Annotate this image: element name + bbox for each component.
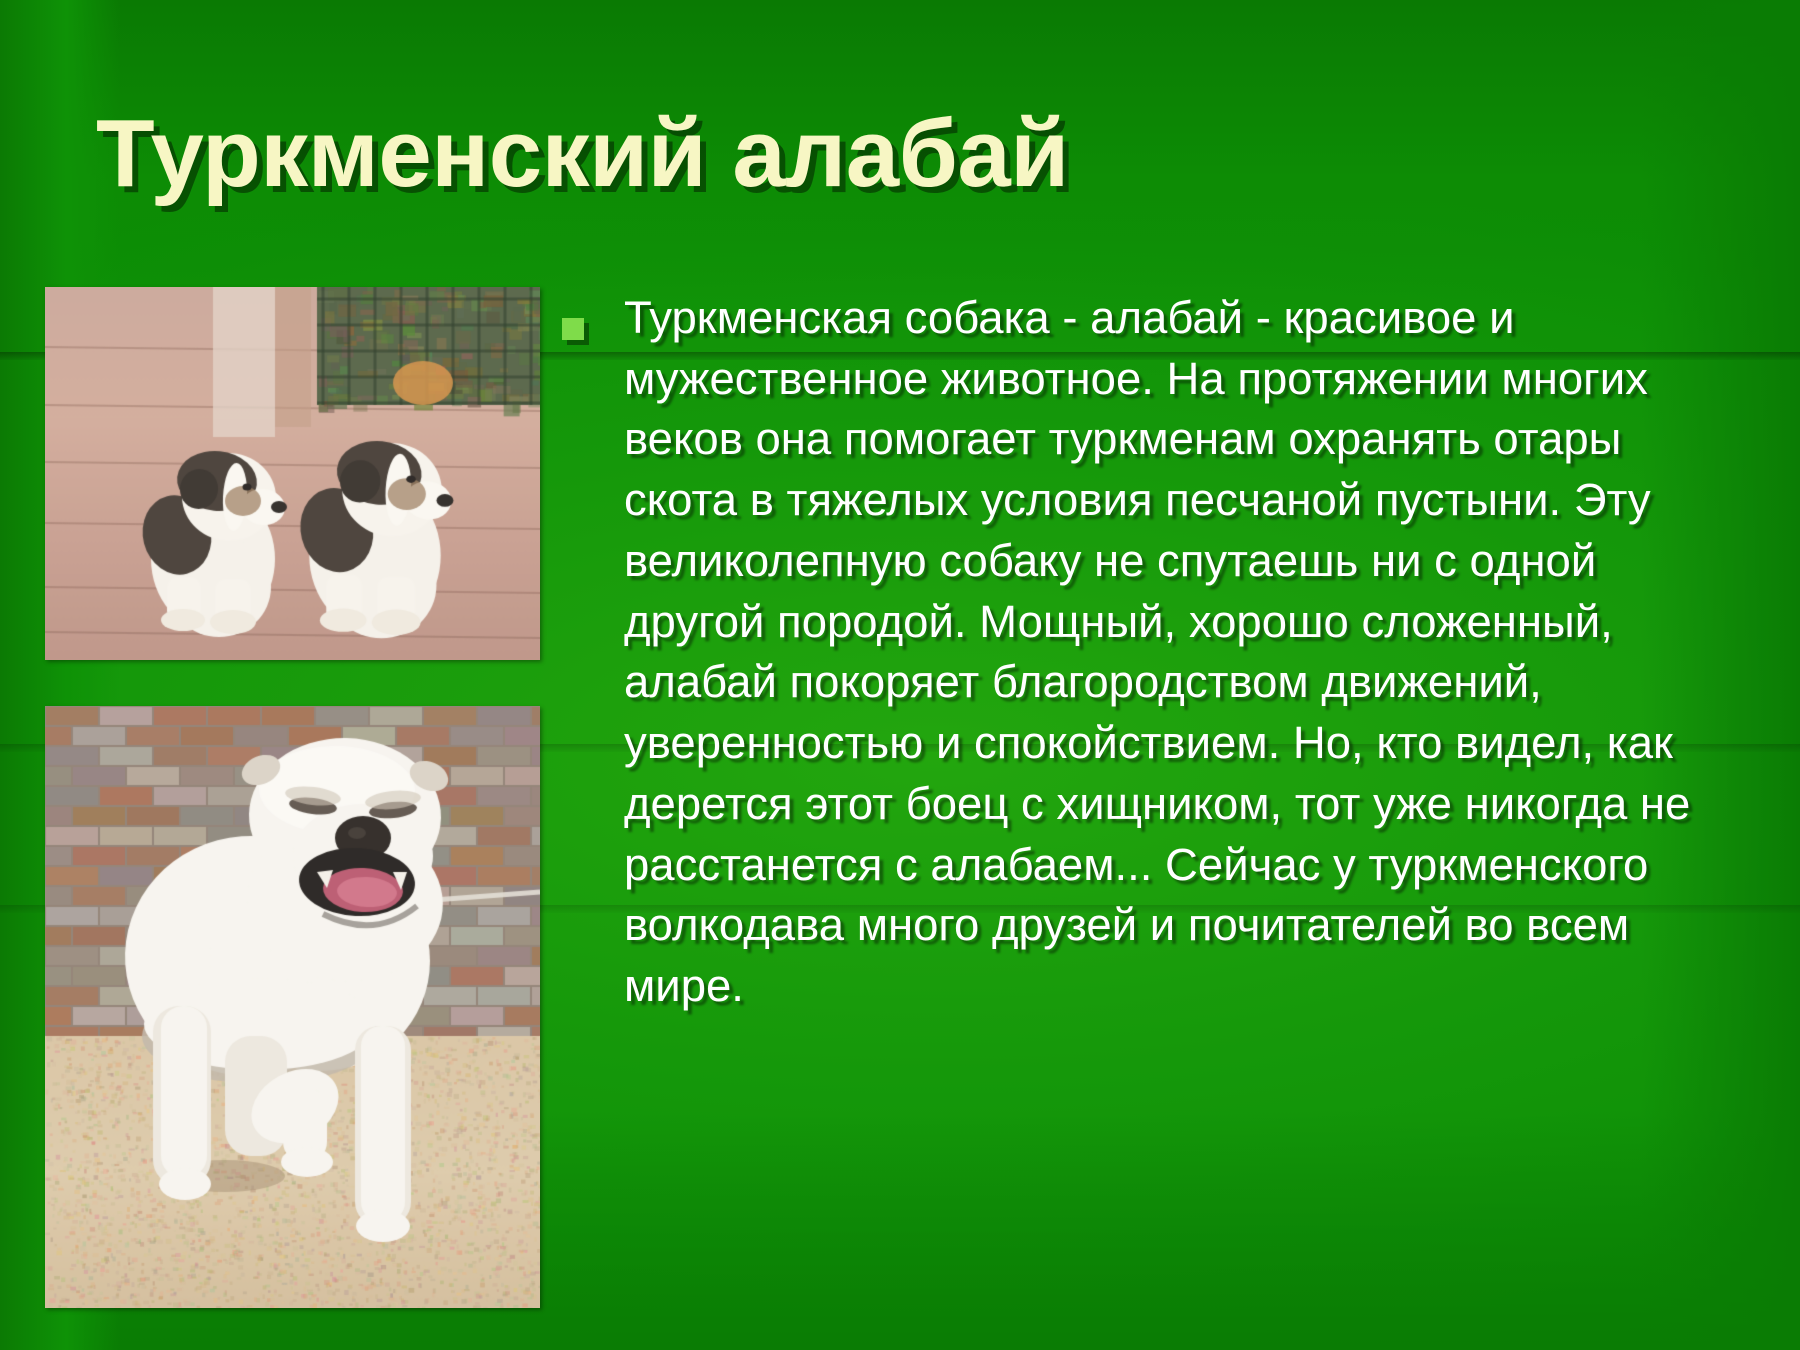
body-text-block: Туркменская собака - алабай - красивое и…: [560, 288, 1740, 1017]
bullet-square-icon: [562, 318, 584, 340]
slide-title: Туркменский алабай: [96, 104, 1516, 204]
alabai-puppies-photo: [45, 287, 540, 660]
presentation-slide: Туркменский алабай Туркменская собака - …: [0, 0, 1800, 1350]
body-paragraph: Туркменская собака - алабай - красивое и…: [624, 288, 1740, 1017]
alabai-adult-photo: [45, 706, 540, 1308]
